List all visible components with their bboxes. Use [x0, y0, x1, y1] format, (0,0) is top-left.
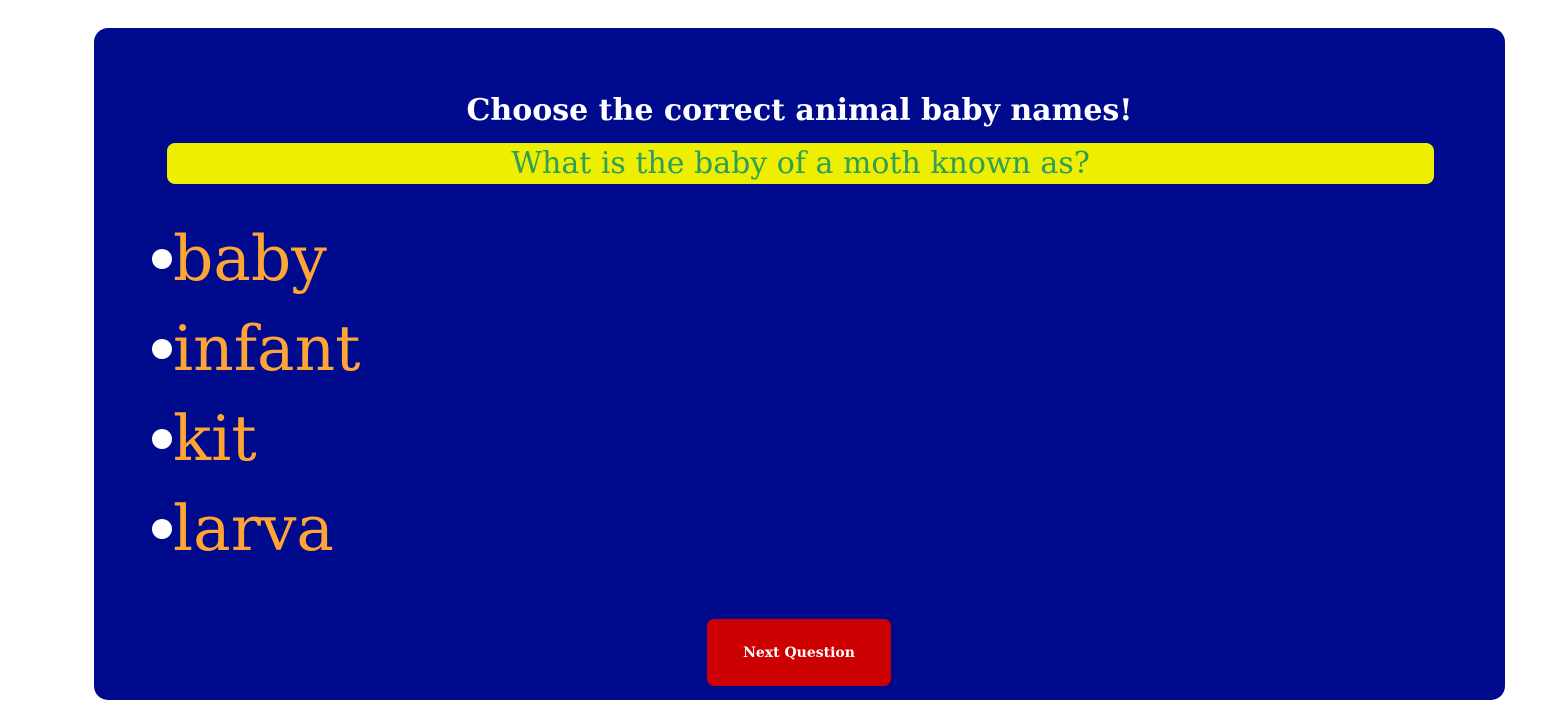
- next-question-button[interactable]: Next Question: [707, 619, 891, 686]
- page-title: Choose the correct animal baby names!: [94, 92, 1505, 130]
- bullet-icon: [152, 249, 172, 269]
- answer-option-infant[interactable]: infant: [94, 304, 1505, 394]
- answer-option-label: larva: [173, 494, 334, 564]
- answer-option-label: baby: [173, 224, 327, 294]
- answer-option-label: kit: [173, 404, 257, 474]
- answer-option-label: infant: [173, 314, 361, 384]
- answer-option-kit[interactable]: kit: [94, 394, 1505, 484]
- bullet-icon: [152, 519, 172, 539]
- question-bar: What is the baby of a moth known as?: [167, 143, 1434, 184]
- bullet-icon: [152, 339, 172, 359]
- quiz-card: Choose the correct animal baby names! Wh…: [94, 28, 1505, 700]
- answer-option-larva[interactable]: larva: [94, 484, 1505, 574]
- answer-option-baby[interactable]: baby: [94, 214, 1505, 304]
- answer-options-list: baby infant kit larva: [94, 214, 1505, 574]
- question-text: What is the baby of a moth known as?: [511, 147, 1090, 181]
- bullet-icon: [152, 429, 172, 449]
